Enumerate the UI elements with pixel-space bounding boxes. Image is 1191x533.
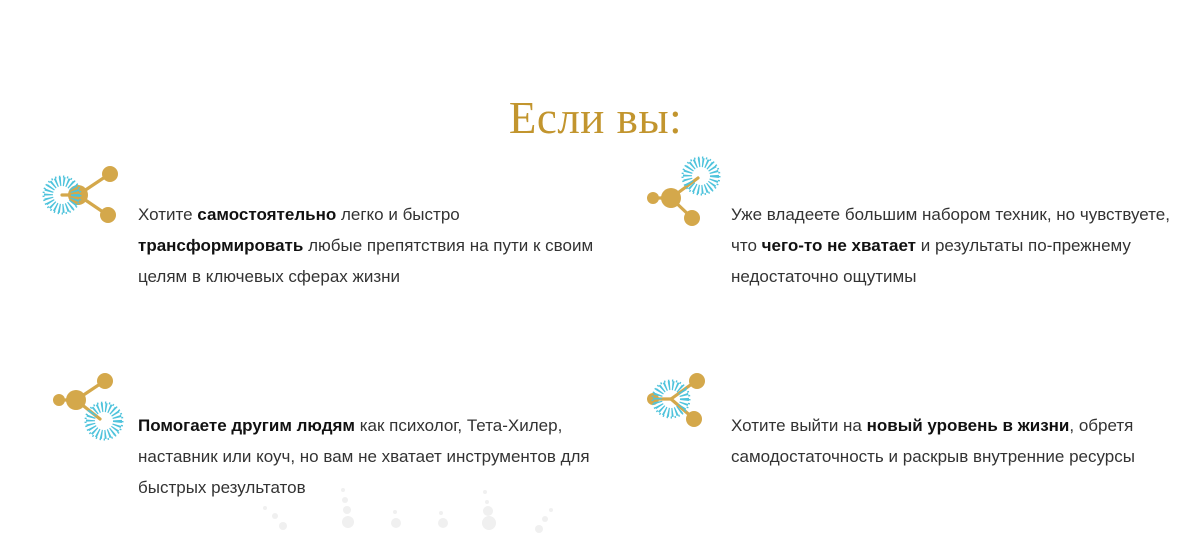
feature-text: Хотите самостоятельно легко и быстро тра… xyxy=(138,177,608,292)
feature-text: Хотите выйти на новый уровень в жизни, о… xyxy=(731,388,1186,472)
decor-dot xyxy=(279,522,287,530)
network-node-icon xyxy=(48,162,134,228)
page-title: Если вы: xyxy=(0,92,1191,144)
decor-dot xyxy=(535,525,543,533)
feature-text: Уже владеете большим набором техник, но … xyxy=(731,177,1186,292)
features-grid: Хотите самостоятельно легко и быстро тра… xyxy=(0,160,1191,520)
dotted-ring xyxy=(86,403,123,440)
feature-text: Помогаете другим людям как психолог, Тет… xyxy=(138,388,608,503)
network-node-icon xyxy=(641,373,727,439)
network-node-icon xyxy=(48,373,134,439)
feature-item-new-level: Хотите выйти на новый уровень в жизни, о… xyxy=(641,371,1186,520)
section-if-you: Если вы: xyxy=(0,0,1191,530)
dotted-ring xyxy=(683,158,720,195)
feature-item-missing-something: Уже владеете большим набором техник, но … xyxy=(641,160,1186,309)
feature-item-helping-others: Помогаете другим людям как психолог, Тет… xyxy=(48,371,633,520)
network-node-icon xyxy=(641,162,727,228)
feature-item-self-transform: Хотите самостоятельно легко и быстро тра… xyxy=(48,160,633,309)
